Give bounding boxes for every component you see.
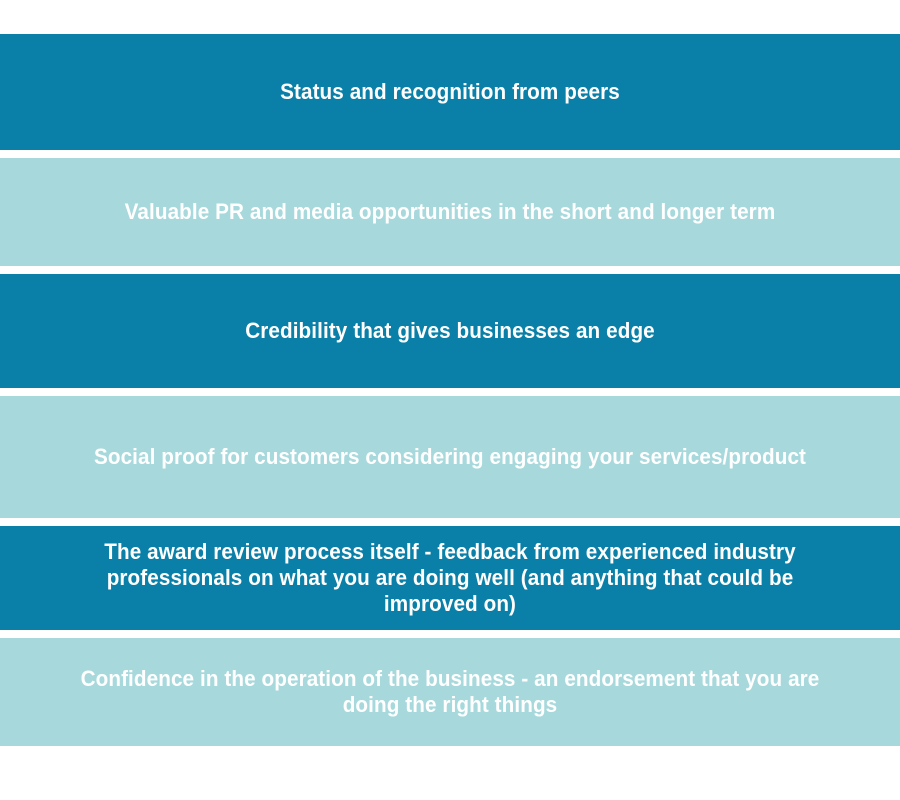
band-divider-1 bbox=[0, 150, 900, 158]
band-divider-2 bbox=[0, 266, 900, 274]
benefit-band-6: Confidence in the operation of the busin… bbox=[0, 638, 900, 746]
benefit-band-5-label: The award review process itself - feedba… bbox=[69, 539, 830, 617]
benefit-band-5: The award review process itself - feedba… bbox=[0, 526, 900, 630]
band-divider-5 bbox=[0, 630, 900, 638]
top-spacer bbox=[0, 0, 900, 34]
benefit-band-2: Valuable PR and media opportunities in t… bbox=[0, 158, 900, 266]
benefit-band-2-label: Valuable PR and media opportunities in t… bbox=[69, 199, 830, 225]
benefit-band-1-label: Status and recognition from peers bbox=[69, 79, 830, 105]
band-divider-4 bbox=[0, 518, 900, 526]
bottom-spacer bbox=[0, 746, 900, 800]
band-divider-3 bbox=[0, 388, 900, 396]
benefit-band-3-label: Credibility that gives businesses an edg… bbox=[69, 318, 830, 344]
benefit-band-4-label: Social proof for customers considering e… bbox=[69, 444, 830, 470]
benefit-band-6-label: Confidence in the operation of the busin… bbox=[69, 666, 830, 718]
benefit-band-3: Credibility that gives businesses an edg… bbox=[0, 274, 900, 388]
benefit-band-1: Status and recognition from peers bbox=[0, 34, 900, 150]
benefit-band-4: Social proof for customers considering e… bbox=[0, 396, 900, 518]
benefits-band-stack: Status and recognition from peers Valuab… bbox=[0, 0, 900, 800]
